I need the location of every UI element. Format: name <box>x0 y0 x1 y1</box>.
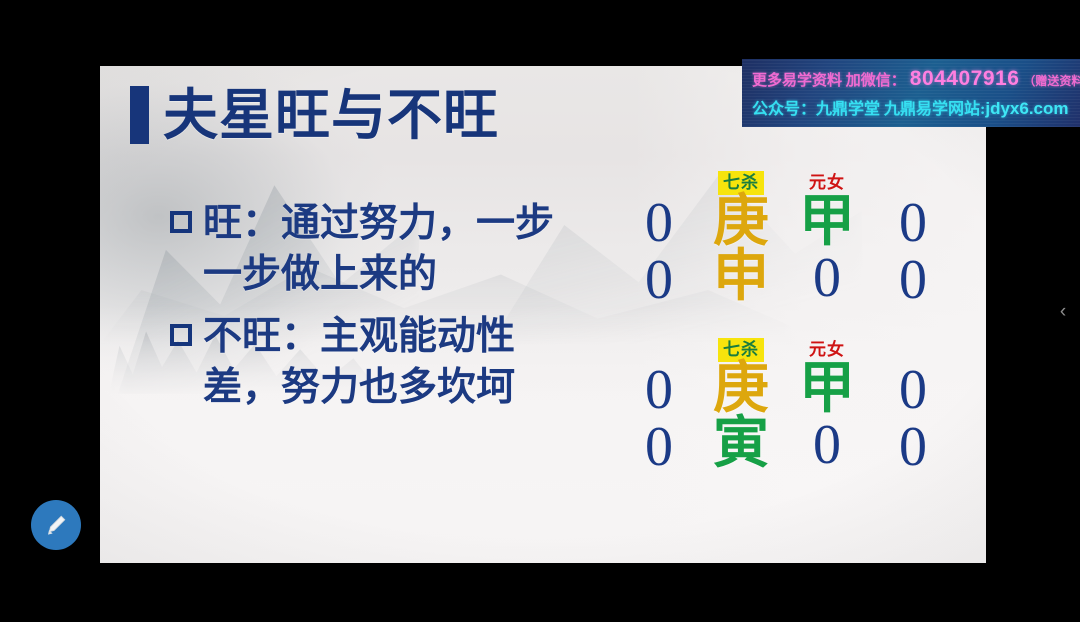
panel-collapse-chevron-icon[interactable]: ‹ <box>1055 298 1071 324</box>
bullet-item-1-label: 旺：通过努力，一步一步做上来的 <box>203 199 562 300</box>
bullet-item-2: 不旺：主观能动性差，努力也多坎坷 <box>170 312 562 413</box>
bazi-top-year-stem: 0 <box>645 195 673 252</box>
watermark-website-url: jdyx6.com <box>985 99 1068 119</box>
bazi-top-day-branch: 0 <box>813 250 841 307</box>
bazi-top-col-day: 元女 甲 0 <box>784 171 870 307</box>
bazi-bottom-year-stem: 0 <box>645 362 673 419</box>
watermark-gift-note: （赠送资料） <box>1023 72 1080 89</box>
presentation-slide: 夫星旺与不旺 旺：通过努力，一步一步做上来的 不旺：主观能动性差，努力也多坎坷 … <box>100 66 986 563</box>
page-title: 夫星旺与不旺 <box>163 88 499 143</box>
bazi-top-month-stem: 庚 <box>713 195 769 250</box>
slide-body: 旺：通过努力，一步一步做上来的 不旺：主观能动性差，努力也多坎坷 <box>170 199 562 426</box>
bazi-top-hour-branch: 0 <box>899 252 927 309</box>
title-bar-marker <box>130 86 149 144</box>
bazi-bottom-day-stem: 甲 <box>799 362 855 417</box>
bazi-top-year-branch: 0 <box>645 252 673 309</box>
bazi-bottom-day-branch: 0 <box>813 417 841 474</box>
chevron-left-icon: ‹ <box>1060 302 1066 321</box>
bazi-bottom-col-year: 0 0 <box>620 338 698 476</box>
watermark-account-label: 公众号：九鼎学堂 九鼎易学网站: <box>752 95 985 119</box>
bazi-top-col-year: 0 0 <box>620 171 698 309</box>
bazi-top-day-stem: 甲 <box>799 195 855 250</box>
bazi-chart-top: 0 0 七杀 庚 申 元女 甲 0 0 0 <box>620 171 956 309</box>
bazi-bottom-hour-stem: 0 <box>899 362 927 419</box>
watermark-wechat-number: 804407916 <box>910 67 1020 91</box>
annotation-pen-button[interactable] <box>31 500 81 550</box>
watermark-line-2: 公众号：九鼎学堂 九鼎易学网站: jdyx6.com <box>752 95 1072 119</box>
bullet-item-2-label: 不旺：主观能动性差，努力也多坎坷 <box>203 312 562 413</box>
bazi-bottom-year-branch: 0 <box>645 419 673 476</box>
bazi-top-hour-stem: 0 <box>899 195 927 252</box>
bullet-item-1: 旺：通过努力，一步一步做上来的 <box>170 199 562 300</box>
bazi-chart-bottom: 0 0 七杀 庚 寅 元女 甲 0 0 0 <box>620 338 956 476</box>
video-player-frame: 夫星旺与不旺 旺：通过努力，一步一步做上来的 不旺：主观能动性差，努力也多坎坷 … <box>0 0 1080 622</box>
square-bullet-icon <box>170 324 192 346</box>
bazi-bottom-col-month: 七杀 庚 寅 <box>698 338 784 472</box>
promo-watermark-banner: 更多易学资料 加微信： 804407916 （赠送资料） 公众号：九鼎学堂 九鼎… <box>742 59 1080 127</box>
bazi-top-col-month: 七杀 庚 申 <box>698 171 784 305</box>
bazi-bottom-month-stem: 庚 <box>713 362 769 417</box>
slide-title-row: 夫星旺与不旺 <box>130 86 499 144</box>
bazi-bottom-col-hour: 0 0 <box>870 338 956 476</box>
pen-icon <box>43 512 69 538</box>
bazi-bottom-hour-branch: 0 <box>899 419 927 476</box>
watermark-line-1: 更多易学资料 加微信： 804407916 （赠送资料） <box>752 67 1072 91</box>
square-bullet-icon <box>170 211 192 233</box>
bazi-bottom-col-day: 元女 甲 0 <box>784 338 870 474</box>
bazi-top-month-branch: 申 <box>713 250 769 305</box>
bazi-bottom-month-branch: 寅 <box>713 417 769 472</box>
watermark-wechat-label: 更多易学资料 加微信： <box>752 69 906 90</box>
bazi-top-col-hour: 0 0 <box>870 171 956 309</box>
